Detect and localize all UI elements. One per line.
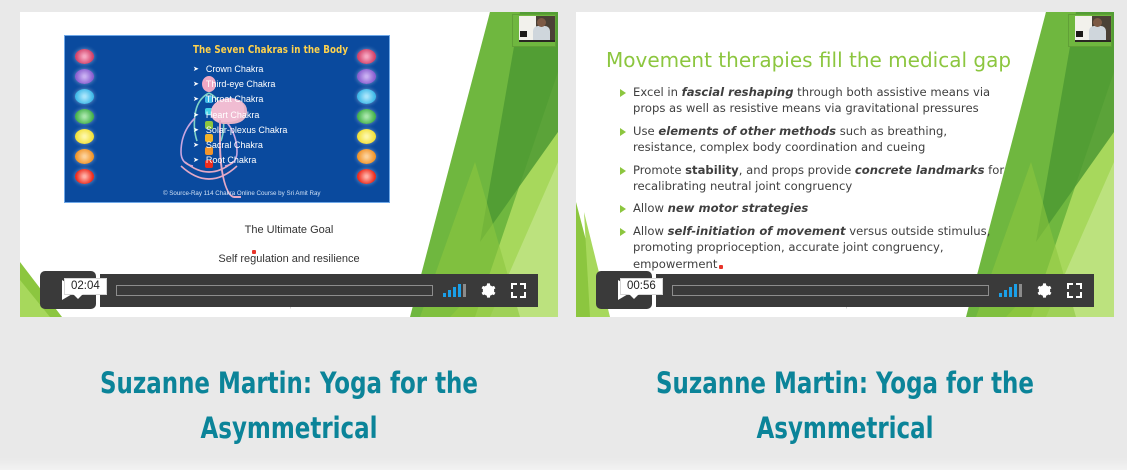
chakra-list-item: Heart Chakra <box>193 108 287 123</box>
webcam-frame-edge <box>513 42 555 46</box>
webcam-monitor <box>520 31 527 37</box>
chakra-icon-third-eye <box>75 69 94 84</box>
slide-bullet-item: Allow self-initiation of movement versus… <box>620 223 1012 272</box>
video-controls-bar <box>596 271 1094 309</box>
chakra-icon-root <box>75 169 94 184</box>
gear-icon[interactable] <box>479 282 496 299</box>
video-controls-bar <box>40 271 538 309</box>
current-time-tooltip: 02:04 <box>64 278 107 295</box>
laser-pointer-dot <box>252 250 256 254</box>
video-grid: The Seven Chakras in the Body <box>0 0 1127 470</box>
fullscreen-icon[interactable] <box>1067 283 1082 298</box>
webcam-person-head <box>1093 18 1102 27</box>
slide-bullet-list: Excel in fascial reshaping through both … <box>620 84 1012 278</box>
chakra-diagram-credit: © Source-Ray 114 Chakra Online Course by… <box>163 190 320 197</box>
self-regulation-text: Self regulation and resilience <box>20 253 558 265</box>
webcam-person-body <box>1089 26 1106 41</box>
video-card-right: Movement therapies fill the medical gap … <box>576 12 1114 470</box>
video-player-left[interactable]: The Seven Chakras in the Body <box>20 12 558 317</box>
laser-pointer-dot <box>719 265 723 269</box>
video-caption-line-1: Suzanne Martin: Yoga for the Asymmetrica… <box>608 361 1081 451</box>
chakra-icon-root <box>357 169 376 184</box>
chakra-icon-column-left <box>75 49 97 189</box>
fullscreen-icon[interactable] <box>511 283 526 298</box>
chakra-icon-throat <box>75 89 94 104</box>
chakra-list-item: Solar-plexus Chakra <box>193 123 287 138</box>
video-caption-right[interactable]: Suzanne Martin: Yoga for the Asymmetrica… <box>608 361 1081 470</box>
slide-bullet-item: Promote stability, and props provide con… <box>620 162 1012 195</box>
chakra-list-item: Third-eye Chakra <box>193 77 287 92</box>
controls-right-group <box>100 274 538 307</box>
chakra-list-item: Throat Chakra <box>193 92 287 107</box>
chakra-list-item: Root Chakra <box>193 153 287 168</box>
video-caption-left[interactable]: Suzanne Martin: Yoga for the Asymmetrica… <box>52 361 525 470</box>
webcam-thumbnail[interactable] <box>1068 14 1112 47</box>
chakra-icon-heart <box>357 109 376 124</box>
chakra-icon-crown <box>75 49 94 64</box>
volume-bars-icon[interactable] <box>999 283 1022 297</box>
webcam-thumbnail[interactable] <box>512 14 556 47</box>
gear-icon[interactable] <box>1035 282 1052 299</box>
volume-bars-icon[interactable] <box>443 283 466 297</box>
chakra-diagram-title: The Seven Chakras in the Body <box>193 44 348 56</box>
slide-bullet-item: Excel in fascial reshaping through both … <box>620 84 1012 117</box>
chakra-icon-sacral <box>75 149 94 164</box>
webcam-monitor <box>1076 31 1083 37</box>
controls-right-group <box>656 274 1094 307</box>
progress-bar[interactable] <box>672 285 989 296</box>
video-player-right[interactable]: Movement therapies fill the medical gap … <box>576 12 1114 317</box>
video-gallery-page: The Seven Chakras in the Body <box>0 0 1127 470</box>
webcam-person-body <box>533 26 550 41</box>
current-time-tooltip: 00:56 <box>620 278 663 295</box>
chakra-icon-column-right <box>357 49 379 189</box>
chakra-icon-crown <box>357 49 376 64</box>
chakra-icon-heart <box>75 109 94 124</box>
chakra-list-item: Crown Chakra <box>193 62 287 77</box>
slide-bullet-item: Use elements of other methods such as br… <box>620 123 1012 156</box>
progress-bar[interactable] <box>116 285 433 296</box>
slide-bullet-item: Allow new motor strategies <box>620 200 1012 216</box>
chakra-icon-sacral <box>357 149 376 164</box>
chakra-list-item: Sacral Chakra <box>193 138 287 153</box>
chakra-list: Crown Chakra Third-eye Chakra Throat Cha… <box>193 62 287 168</box>
chakra-icon-solar-plexus <box>75 129 94 144</box>
webcam-frame-edge <box>1069 42 1111 46</box>
page-bottom-edge <box>0 458 1127 470</box>
chakra-icon-throat <box>357 89 376 104</box>
webcam-person-head <box>537 18 546 27</box>
ultimate-goal-text: The Ultimate Goal <box>20 224 558 236</box>
video-card-left: The Seven Chakras in the Body <box>20 12 558 470</box>
chakra-icon-solar-plexus <box>357 129 376 144</box>
chakra-icon-third-eye <box>357 69 376 84</box>
slide-title: Movement therapies fill the medical gap <box>606 48 1011 72</box>
chakra-diagram: The Seven Chakras in the Body <box>64 35 390 203</box>
video-caption-line-1: Suzanne Martin: Yoga for the Asymmetrica… <box>52 361 525 451</box>
